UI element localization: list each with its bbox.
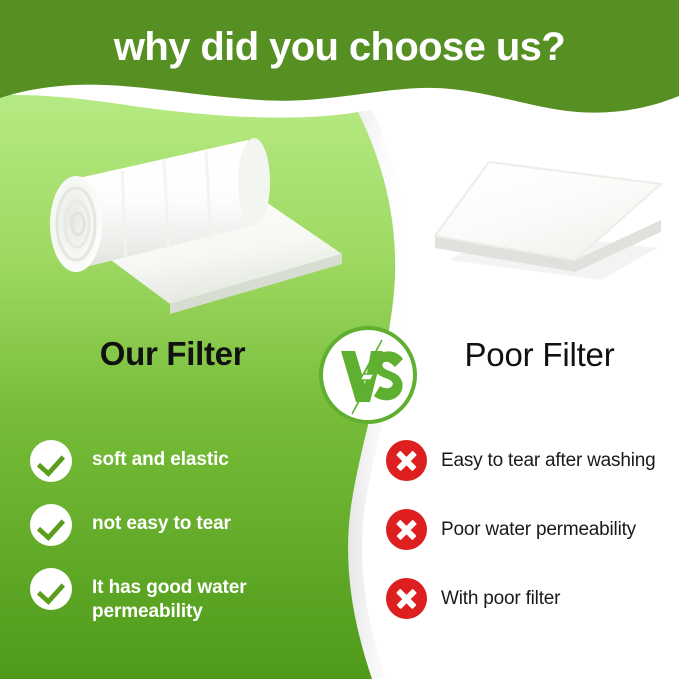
list-item-label: soft and elastic — [92, 440, 229, 472]
right-panel-caption: Poor Filter — [400, 336, 679, 374]
list-item: Poor water permeability — [386, 509, 676, 550]
list-item: It has good water permeability — [30, 568, 330, 624]
list-item-label: With poor filter — [441, 578, 560, 611]
x-icon — [386, 440, 427, 481]
x-icon — [386, 578, 427, 619]
list-item: not easy to tear — [30, 504, 330, 546]
list-item: With poor filter — [386, 578, 676, 619]
check-icon — [30, 568, 72, 610]
left-panel-caption: Our Filter — [0, 335, 345, 373]
benefits-list: soft and elastic not easy to tear It has… — [30, 440, 330, 646]
drawbacks-list: Easy to tear after washing Poor water pe… — [386, 440, 676, 647]
check-icon — [30, 504, 72, 546]
vs-badge — [319, 326, 417, 424]
rolled-filter-image — [30, 128, 350, 318]
list-item: Easy to tear after washing — [386, 440, 676, 481]
list-item-label: Easy to tear after washing — [441, 440, 655, 473]
check-icon — [30, 440, 72, 482]
list-item-label: It has good water permeability — [92, 568, 278, 624]
list-item: soft and elastic — [30, 440, 330, 482]
list-item-label: Poor water permeability — [441, 509, 636, 542]
x-icon — [386, 509, 427, 550]
flat-filter-pad-image — [425, 140, 670, 305]
list-item-label: not easy to tear — [92, 504, 231, 536]
page-title: why did you choose us? — [0, 22, 679, 72]
comparison-poster: why did you choose us? — [0, 0, 679, 679]
roll-far-end — [238, 138, 270, 226]
